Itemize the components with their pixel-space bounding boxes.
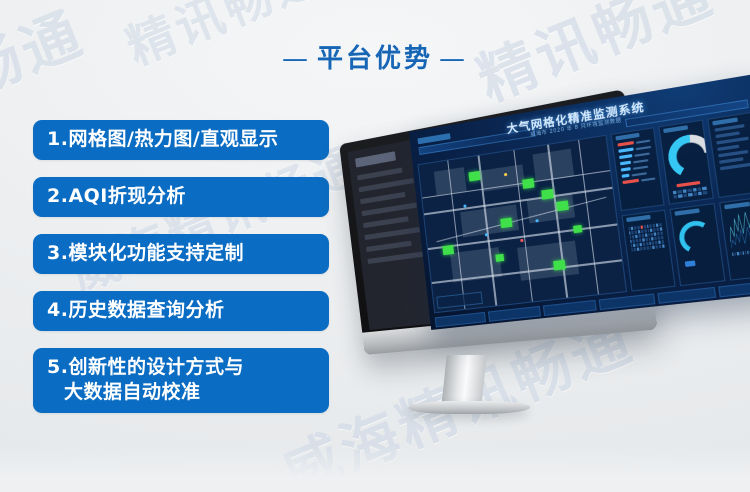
station-marker[interactable] (522, 178, 534, 189)
station-marker[interactable] (556, 201, 569, 212)
page-title: —平台优势— (0, 38, 750, 75)
station-marker[interactable] (573, 225, 582, 233)
footer-tab[interactable] (658, 287, 717, 304)
admin-nav-item[interactable] (366, 241, 412, 252)
map-point[interactable] (520, 239, 523, 242)
alarm-list-item[interactable] (716, 137, 748, 145)
admin-nav-item[interactable] (363, 216, 409, 228)
alarm-list-item[interactable] (714, 124, 744, 132)
admin-nav-item[interactable] (359, 178, 414, 192)
title-dash-left: — (276, 44, 317, 74)
dashboard-cards (610, 112, 750, 292)
alarm-list-item[interactable] (715, 131, 740, 138)
admin-logo (355, 151, 396, 167)
feature-item-1[interactable]: 1.网格图/热力图/直观显示 (33, 120, 329, 160)
monitoring-dashboard: 大气网格化精准监测系统 威海市 2020 年 8 月环境监测数据 (409, 74, 750, 330)
alarm-list-item[interactable] (720, 163, 750, 171)
card-title-bar (626, 215, 651, 222)
card-title-bar (724, 202, 750, 210)
station-marker[interactable] (495, 254, 504, 262)
monitor-stand-neck (441, 355, 486, 407)
card-title-bar (663, 125, 688, 133)
alarm-list-item[interactable] (719, 157, 744, 164)
heatmap-card[interactable] (621, 210, 675, 292)
admin-nav-item[interactable] (365, 227, 420, 240)
map-legend (436, 292, 483, 309)
admin-nav-item[interactable] (362, 202, 417, 216)
bar-ranking-card[interactable] (610, 127, 664, 211)
admin-nav-item[interactable] (357, 167, 403, 180)
station-marker[interactable] (500, 218, 512, 229)
feature-item-label: 5.创新性的设计方式与 (47, 356, 244, 378)
card-title-bar (674, 208, 699, 216)
station-marker[interactable] (554, 260, 567, 271)
index-gauge (677, 219, 715, 256)
alarm-list-item[interactable] (717, 145, 739, 151)
feature-item-5[interactable]: 5.创新性的设计方式与 大数据自动校准 (33, 348, 329, 413)
feature-item-2[interactable]: 2.AQI折现分析 (33, 177, 329, 217)
station-marker[interactable] (469, 171, 481, 182)
slide-canvas: 精讯畅通 精讯畅通 精讯畅通 威海精讯畅通 威海精讯畅通 精讯畅通 精讯畅通 —… (0, 0, 750, 492)
station-marker[interactable] (541, 189, 553, 200)
station-marker[interactable] (442, 245, 454, 255)
alarm-list-card[interactable] (707, 112, 750, 198)
feature-list: 1.网格图/热力图/直观显示 2.AQI折现分析 3.模块化功能支持定制 4.历… (33, 120, 329, 430)
city-grid-map[interactable] (417, 135, 626, 314)
feature-item-label: 4.历史数据查询分析 (47, 299, 224, 321)
watermark-text: 精讯畅通 (0, 278, 9, 403)
title-text: 平台优势 (317, 44, 433, 74)
monitor-stand-base (406, 401, 531, 414)
admin-nav-item[interactable] (367, 252, 423, 264)
feature-item-label-line2: 大数据自动校准 (47, 380, 329, 405)
card-title-bar (615, 133, 639, 141)
admin-nav-item[interactable] (360, 192, 406, 204)
alarm-list-item[interactable] (718, 150, 748, 158)
aqi-gauge (665, 131, 714, 180)
feature-item-3[interactable]: 3.模块化功能支持定制 (33, 234, 329, 274)
feature-item-4[interactable]: 4.历史数据查询分析 (33, 291, 329, 331)
index-gauge-card[interactable] (669, 203, 725, 286)
title-dash-right: — (433, 44, 474, 74)
heatmap-grid (628, 223, 664, 252)
feature-item-label: 2.AQI折现分析 (47, 185, 186, 207)
card-title-bar (712, 117, 738, 125)
footer-tab[interactable] (718, 280, 750, 297)
map-point[interactable] (535, 219, 538, 222)
aqi-gauge-card[interactable] (658, 120, 714, 205)
feature-item-label: 1.网格图/热力图/直观显示 (47, 128, 278, 150)
trend-line-chart (727, 210, 750, 251)
feature-item-label: 3.模块化功能支持定制 (47, 242, 244, 264)
map-point[interactable] (463, 204, 466, 207)
bottom-fade (0, 446, 750, 492)
